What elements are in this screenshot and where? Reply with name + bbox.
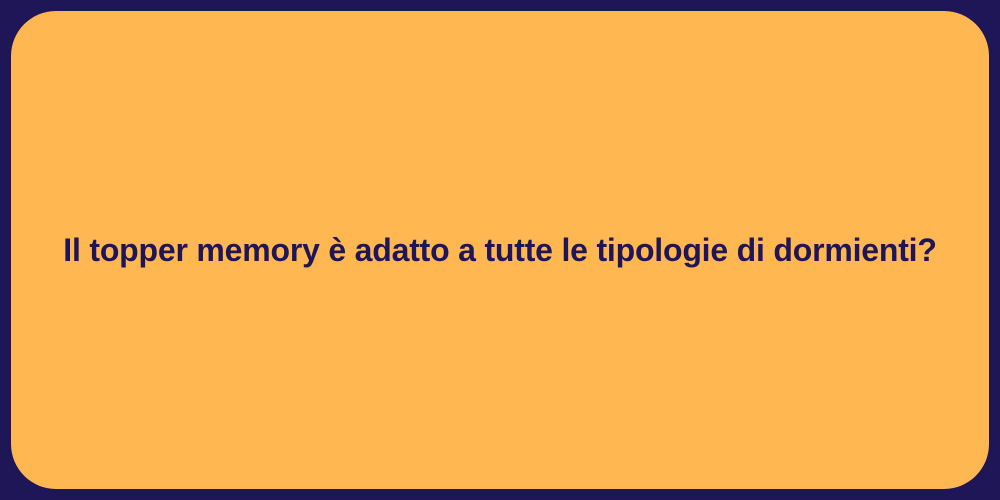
question-card-panel: Il topper memory è adatto a tutte le tip… (11, 11, 989, 489)
question-heading: Il topper memory è adatto a tutte le tip… (63, 230, 936, 270)
question-card-border: Il topper memory è adatto a tutte le tip… (0, 0, 1000, 500)
